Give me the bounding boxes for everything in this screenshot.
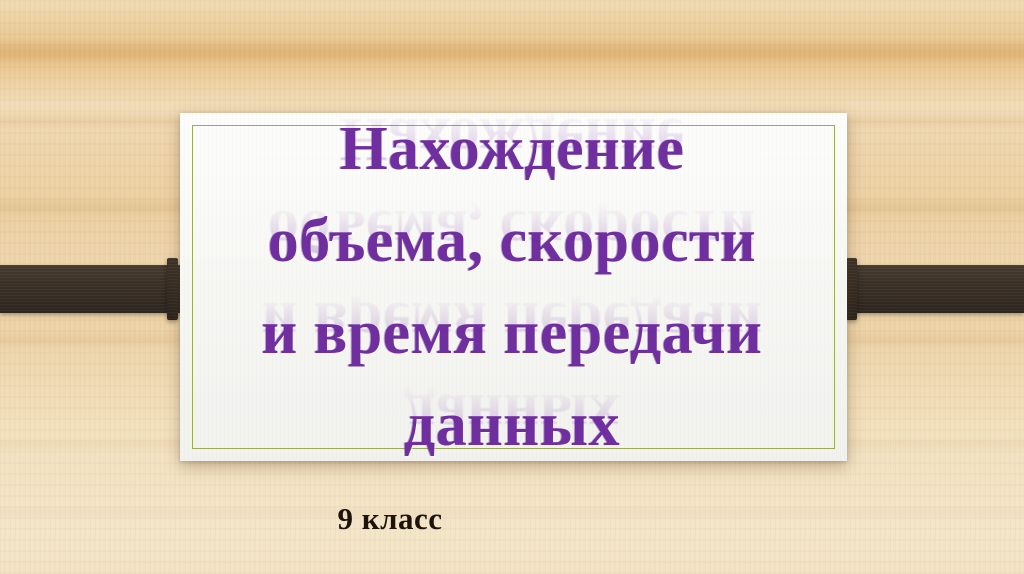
slide-canvas: Нахождение Нахождение объема, скорости о… — [0, 0, 1024, 574]
slide-subtitle: 9 класс — [240, 503, 540, 534]
title-card-inner-border — [192, 125, 835, 449]
ribbon-end-right — [846, 258, 857, 320]
ribbon-end-left — [167, 258, 178, 320]
title-card — [180, 113, 847, 461]
